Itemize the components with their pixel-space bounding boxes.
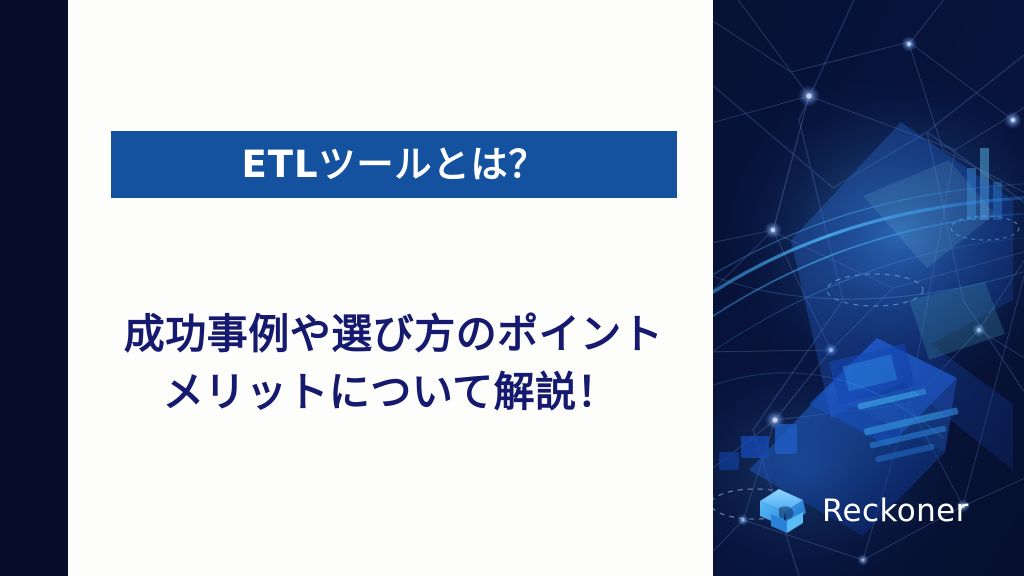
headline-line-1: 成功事例や選び方のポイント [74, 305, 713, 363]
reckoner-cube-icon [757, 486, 809, 536]
slide-canvas: ETLツールとは？ 成功事例や選び方のポイント メリットについて解説！ [0, 0, 1024, 576]
headline-line-2: メリットについて解説！ [68, 363, 713, 421]
reckoner-wordmark: Reckoner [822, 496, 969, 527]
left-accent-bar [0, 0, 68, 576]
content-area [68, 0, 713, 576]
reckoner-logo: Reckoner [757, 486, 969, 536]
page-title: ETLツールとは？ [241, 146, 546, 183]
title-banner: ETLツールとは？ [111, 131, 677, 198]
headline-block: 成功事例や選び方のポイント メリットについて解説！ [68, 305, 713, 421]
